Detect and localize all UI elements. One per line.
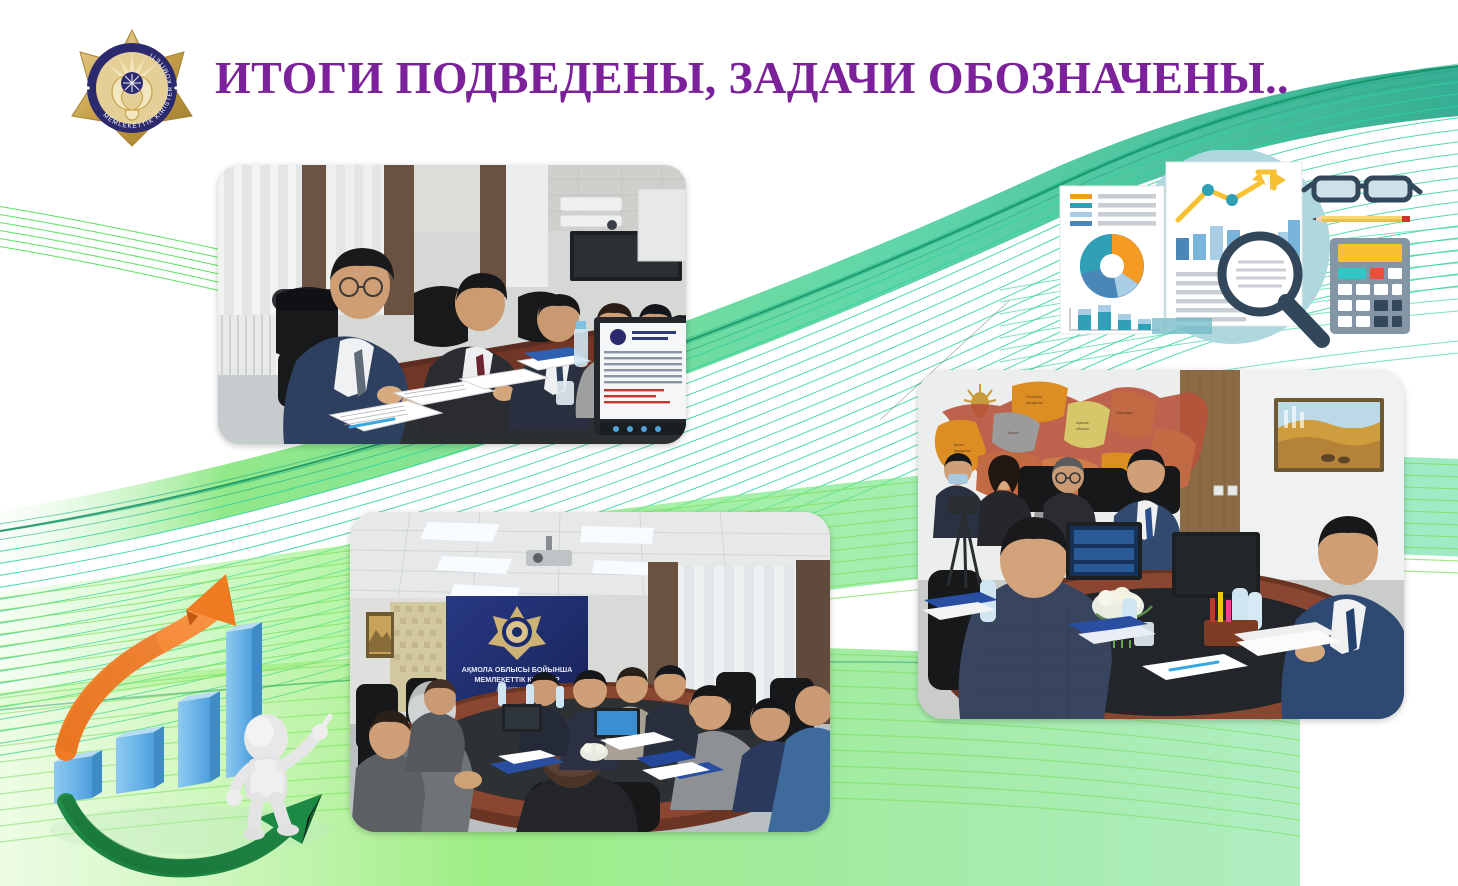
svg-text:Солтүстік: Солтүстік xyxy=(1026,395,1042,399)
infographic-svg xyxy=(1036,150,1436,350)
photo-top-art xyxy=(218,165,686,444)
svg-text:Қызыл: Қызыл xyxy=(1008,431,1019,435)
svg-text:Қазақстан: Қазақстан xyxy=(1026,401,1043,405)
slide-canvas: MEMLEKETTIK KIRISTER KOMITETI ИТОГИ ПОДВ… xyxy=(0,0,1458,886)
growth-chart-svg xyxy=(40,560,370,886)
svg-text:Ақмола: Ақмола xyxy=(1076,421,1088,425)
glasses-icon xyxy=(1304,178,1420,200)
backdrop-accent-bar xyxy=(1152,318,1212,334)
svg-text:Қазақстан: Қазақстан xyxy=(954,449,971,453)
photo-conference-hall[interactable]: АҚМОЛА ОБЛЫСЫ БОЙЫНША МЕМЛЕКЕТТІК КІРІСТ… xyxy=(350,512,830,832)
svg-text:АҚМОЛА ОБЛЫСЫ БОЙЫНША: АҚМОЛА ОБЛЫСЫ БОЙЫНША xyxy=(462,665,573,674)
photo-right-art: БатысҚазақстан СолтүстікҚазақстан Ақмола… xyxy=(918,370,1404,719)
framed-painting xyxy=(1274,398,1384,472)
calculator-icon xyxy=(1330,238,1410,334)
photo-meeting-with-map[interactable]: БатысҚазақстан СолтүстікҚазақстан Ақмола… xyxy=(918,370,1404,719)
monitor xyxy=(594,317,686,435)
emblem-svg: MEMLEKETTIK KIRISTER KOMITETI xyxy=(68,26,196,150)
state-revenue-committee-emblem: MEMLEKETTIK KIRISTER KOMITETI xyxy=(68,26,196,150)
svg-text:Батыс: Батыс xyxy=(954,443,965,447)
emblem-center-pattern xyxy=(123,74,141,92)
pencil-icon xyxy=(1312,216,1410,222)
svg-text:облысы: облысы xyxy=(1076,427,1089,431)
growth-chart-3d xyxy=(40,560,370,886)
slide-title: ИТОГИ ПОДВЕДЕНЫ, ЗАДАЧИ ОБОЗНАЧЕНЫ.. xyxy=(215,48,1400,108)
analytics-infographic xyxy=(1036,150,1436,350)
svg-text:Павлодар: Павлодар xyxy=(1116,411,1133,415)
report-sheet xyxy=(1060,186,1164,334)
donut-chart xyxy=(1080,234,1144,298)
photo-meeting-officials[interactable] xyxy=(218,165,686,444)
photo-bottom-art: АҚМОЛА ОБЛЫСЫ БОЙЫНША МЕМЛЕКЕТТІК КІРІСТ… xyxy=(350,512,830,832)
